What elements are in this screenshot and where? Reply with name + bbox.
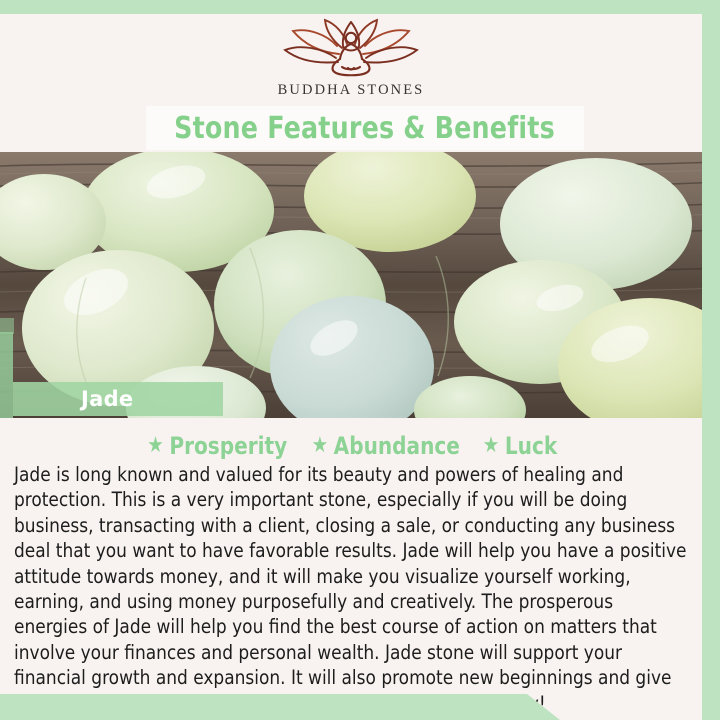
star-icon: ★	[312, 435, 329, 457]
title-banner: Stone Features & Benefits	[146, 106, 584, 150]
lotus-meditation-icon	[276, 18, 426, 80]
photo-left-green-bar	[0, 332, 13, 418]
brand-logo: BUDDHA STONES	[0, 18, 702, 108]
benefit-item-prosperity: ★ Prosperity	[147, 432, 287, 460]
benefits-row: ★ Prosperity ★ Abundance ★ Luck	[0, 430, 702, 462]
bottom-green-band	[0, 694, 560, 720]
top-green-band	[0, 0, 720, 14]
benefit-label: Luck	[505, 432, 557, 460]
benefit-item-luck: ★ Luck	[483, 432, 557, 460]
stone-name-bar: Jade	[13, 382, 223, 416]
stone-name-label: Jade	[81, 387, 133, 411]
jade-stones-photo	[0, 152, 720, 418]
benefit-label: Abundance	[334, 432, 460, 460]
brand-name: BUDDHA STONES	[278, 82, 425, 99]
star-icon: ★	[147, 435, 164, 457]
right-green-band	[702, 0, 720, 720]
benefit-label: Prosperity	[169, 432, 287, 460]
star-icon: ★	[483, 435, 500, 457]
page-title: Stone Features & Benefits	[175, 111, 556, 146]
stone-description: Jade is long known and valued for its be…	[14, 462, 690, 716]
benefit-item-abundance: ★ Abundance	[312, 432, 460, 460]
infographic-card: BUDDHA STONES Stone Features & Benefits	[0, 0, 720, 720]
photo-illustration	[0, 152, 720, 418]
